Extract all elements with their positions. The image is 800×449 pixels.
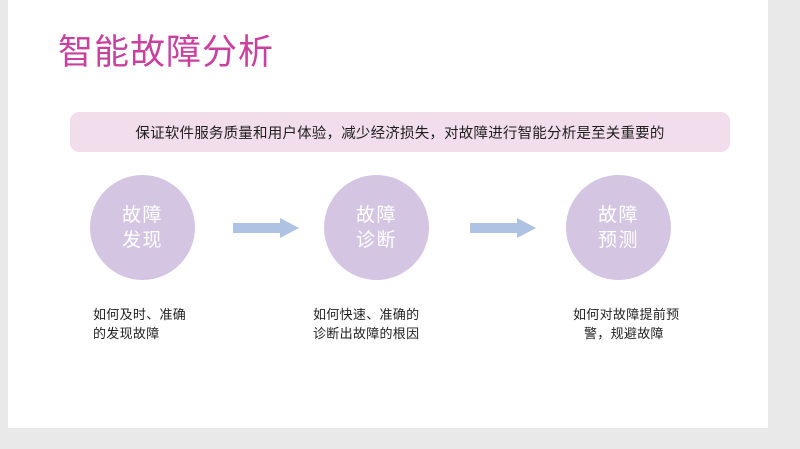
caption-line-1: 如何对故障提前预 xyxy=(573,307,679,322)
caption-line-2: 警，规避故障 xyxy=(573,324,679,343)
flow-node-fault-prediction[interactable]: 故障 预测 xyxy=(566,175,671,280)
flow-node-fault-diagnosis[interactable]: 故障 诊断 xyxy=(324,175,429,280)
flow-node-label-line2: 预测 xyxy=(598,228,639,253)
arrow-right-icon xyxy=(233,218,299,238)
flow-node-label-line1: 故障 xyxy=(356,203,397,228)
flow-node-caption-prediction: 如何对故障提前预 警，规避故障 xyxy=(573,305,679,343)
flow-node-fault-discovery[interactable]: 故障 发现 xyxy=(90,175,195,280)
summary-banner: 保证软件服务质量和用户体验，减少经济损失，对故障进行智能分析是至关重要的 xyxy=(70,112,730,152)
flow-node-label-line1: 故障 xyxy=(598,203,639,228)
flow-node-caption-discovery: 如何及时、准确 的发现故障 xyxy=(93,305,186,343)
slide-canvas: 智能故障分析 保证软件服务质量和用户体验，减少经济损失，对故障进行智能分析是至关… xyxy=(8,0,768,428)
caption-line-2: 的发现故障 xyxy=(93,324,186,343)
summary-banner-text: 保证软件服务质量和用户体验，减少经济损失，对故障进行智能分析是至关重要的 xyxy=(135,122,664,143)
flow-node-label-line1: 故障 xyxy=(122,203,163,228)
flow-node-label-line2: 诊断 xyxy=(356,228,397,253)
arrow-right-icon xyxy=(470,218,536,238)
caption-line-1: 如何及时、准确 xyxy=(93,307,186,322)
flow-node-caption-diagnosis: 如何快速、准确的 诊断出故障的根因 xyxy=(313,305,419,343)
caption-line-1: 如何快速、准确的 xyxy=(313,307,419,322)
page-title: 智能故障分析 xyxy=(58,31,274,75)
flow-node-label-line2: 发现 xyxy=(122,228,163,253)
caption-line-2: 诊断出故障的根因 xyxy=(313,324,419,343)
